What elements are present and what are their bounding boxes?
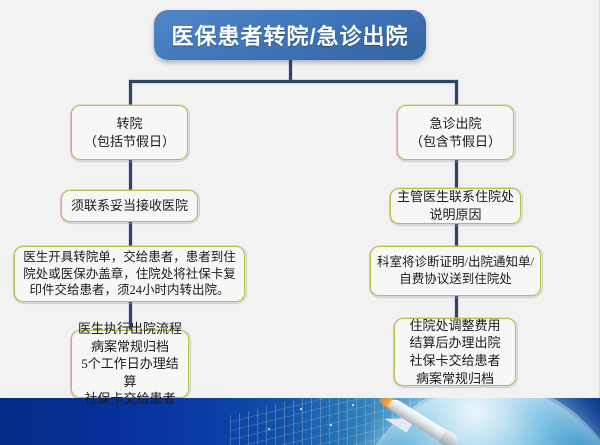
- node-transfer-start[interactable]: 转院 （包括节假日）: [71, 105, 188, 160]
- flowchart-title-box: 医保患者转院/急诊出院: [154, 10, 426, 60]
- connector-left-1-2: [129, 160, 132, 190]
- node-transfer-discharge-process[interactable]: 医生执行出院流程 病案常规归档 5个工作日办理结算 社保卡交给患者: [71, 330, 189, 398]
- connector-left-2-3: [129, 222, 132, 246]
- node-doctor-contacts-ward-office[interactable]: 主管医生联系住院处 说明原因: [390, 188, 521, 224]
- node-submit-documents[interactable]: 科室将诊断证明/出院通知单/ 自费协议送到住院处: [370, 246, 541, 296]
- node-transfer-paperwork[interactable]: 医生开具转院单，交给患者，患者到住院处或医保办盖章，住院处将社保卡复印件交给患者…: [14, 246, 245, 302]
- connector-split-horizontal: [130, 80, 457, 83]
- connector-right-2-3: [455, 224, 458, 246]
- node-settlement-and-archive[interactable]: 住院处调整费用 结算后办理出院 社保卡交给患者 病案常规归档: [394, 318, 516, 386]
- node-emergency-start[interactable]: 急诊出院 （包含节假日）: [397, 105, 514, 160]
- connector-right-drop: [455, 80, 458, 106]
- page-title: 医保患者转院/急诊出院: [171, 19, 408, 51]
- connector-right-3-4: [455, 296, 458, 318]
- connector-left-drop: [129, 80, 132, 106]
- connector-right-1-2: [455, 160, 458, 188]
- connector-title-stem: [289, 60, 292, 82]
- flowchart-canvas: 医保患者转院/急诊出院 转院 （包括节假日） 须联系妥当接收医院 医生开具转院单…: [0, 0, 600, 445]
- node-contact-receiving-hospital[interactable]: 须联系妥当接收医院: [61, 190, 198, 222]
